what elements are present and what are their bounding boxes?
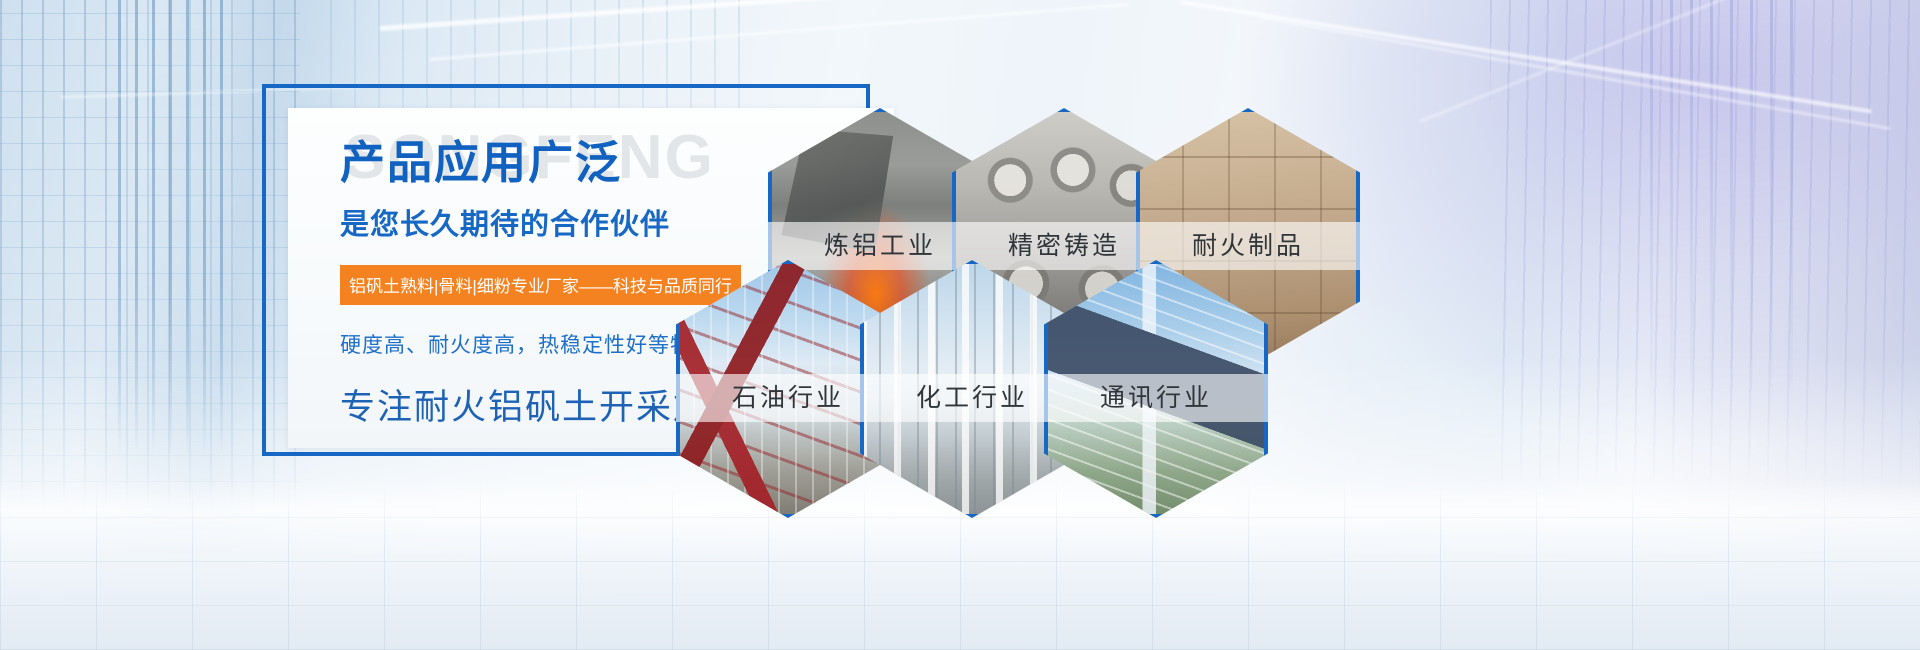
hexagon-label: 通讯行业 [1044,374,1268,422]
application-hexagon-cluster: 炼铝工业 精密铸造 耐火制品 石油行业 化工行业 通讯行业 [0,0,1920,650]
hexagon-label: 耐火制品 [1136,222,1360,270]
